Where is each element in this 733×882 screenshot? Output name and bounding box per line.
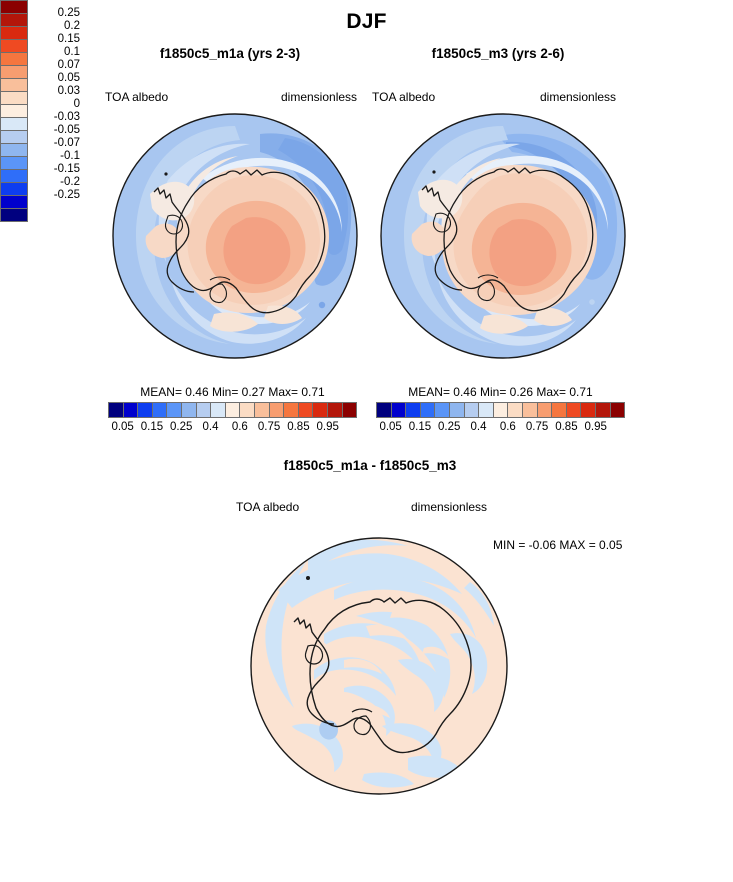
colorbar-right[interactable]: 0.050.150.250.40.60.750.850.95 [376,402,625,439]
colorbar-band [1,1,27,14]
stats-right: MEAN= 0.46 Min= 0.26 Max= 0.71 [368,385,633,399]
colorbar-band [596,403,611,417]
map-field-right [381,114,625,358]
colorbar-tick-label: 0.07 [34,59,80,71]
colorbar-band [270,403,285,417]
colorbar-band [377,403,392,417]
colorbar-band [313,403,328,417]
panel-title-left: f1850c5_m1a (yrs 2-3) [90,46,370,61]
colorbar-tick-label: -0.2 [34,176,80,188]
map-svg-right [378,108,628,364]
colorbar-tick-label: 0.95 [317,421,339,433]
colorbar-band [1,14,27,27]
colorbar-band [1,170,27,183]
colorbar-band [567,403,582,417]
colorbar-band [552,403,567,417]
map-field-difference [251,538,507,794]
colorbar-band [124,403,139,417]
colorbar-tick-label: -0.03 [34,111,80,123]
colorbar-band [299,403,314,417]
colorbar-band [153,403,168,417]
colorbar-band [1,144,27,157]
colorbar-band [343,403,357,417]
colorbar-tick-label: 0.05 [34,72,80,84]
main-title: DJF [0,10,733,34]
colorbar-tick-label: 0.25 [170,421,192,433]
colorbar-tick-label: 0.2 [34,20,80,32]
colorbar-tick-label: 0.85 [555,421,577,433]
colorbar-band [197,403,212,417]
colorbar-band [182,403,197,417]
colorbar-band [1,66,27,79]
colorbar-tick-label: 0.03 [34,85,80,97]
colorbar-band [1,27,27,40]
colorbar-tick-label: 0 [34,98,80,110]
unit-label-right: dimensionless [540,90,616,104]
colorbar-tick-label: 0.05 [379,421,401,433]
colorbar-band [1,131,27,144]
unit-label-left: dimensionless [281,90,357,104]
map-panel-right [378,108,628,364]
colorbar-tick-label: 0.15 [409,421,431,433]
colorbar-band [523,403,538,417]
colorbar-tick-label: 0.05 [111,421,133,433]
colorbar-left[interactable]: 0.050.150.250.40.60.750.850.95 [108,402,357,439]
colorbar-band [508,403,523,417]
colorbar-band [226,403,241,417]
colorbar-tick-label: -0.05 [34,124,80,136]
colorbar-difference-bands[interactable] [0,0,28,222]
colorbar-band [450,403,465,417]
colorbar-left-ticks: 0.050.150.250.40.60.750.850.95 [108,421,357,439]
colorbar-tick-label: 0.95 [585,421,607,433]
field-label-difference: TOA albedo [236,500,299,514]
colorbar-tick-label: -0.15 [34,163,80,175]
colorbar-tick-label: 0.15 [34,33,80,45]
colorbar-tick-label: -0.1 [34,150,80,162]
colorbar-tick-label: -0.07 [34,137,80,149]
colorbar-band [581,403,596,417]
colorbar-tick-label: 0.85 [287,421,309,433]
colorbar-band [1,53,27,66]
colorbar-tick-label: 0.6 [232,421,248,433]
colorbar-tick-label: 0.1 [34,46,80,58]
colorbar-tick-label: 0.4 [471,421,487,433]
colorbar-band [1,79,27,92]
unit-label-difference: dimensionless [411,500,487,514]
field-label-right: TOA albedo [372,90,435,104]
field-label-left: TOA albedo [105,90,168,104]
colorbar-band [435,403,450,417]
colorbar-band [109,403,124,417]
colorbar-band [1,92,27,105]
map-field-left [113,114,357,358]
stats-difference: MIN = -0.06 MAX = 0.05 [493,538,622,552]
colorbar-band [284,403,299,417]
colorbar-band [1,196,27,209]
colorbar-tick-label: 0.25 [438,421,460,433]
map-svg-left [110,108,360,364]
panel-title-right: f1850c5_m3 (yrs 2-6) [358,46,638,61]
colorbar-band [255,403,270,417]
colorbar-band [211,403,226,417]
colorbar-band [1,183,27,196]
colorbar-band [406,403,421,417]
colorbar-tick-label: 0.15 [141,421,163,433]
colorbar-band [479,403,494,417]
colorbar-right-ticks: 0.050.150.250.40.60.750.850.95 [376,421,625,439]
colorbar-band [494,403,509,417]
colorbar-band [328,403,343,417]
colorbar-tick-label: 0.6 [500,421,516,433]
colorbar-tick-label: 0.75 [526,421,548,433]
colorbar-tick-label: 0.75 [258,421,280,433]
colorbar-band [1,118,27,131]
colorbar-band [1,157,27,170]
colorbar-tick-label: -0.25 [34,189,80,201]
colorbar-difference-ticks: 0.250.20.150.10.070.050.030-0.03-0.05-0.… [34,0,94,882]
colorbar-band [1,40,27,53]
colorbar-band [167,403,182,417]
colorbar-band [1,209,27,221]
panel-title-difference: f1850c5_m1a - f1850c5_m3 [180,458,560,473]
colorbar-band [392,403,407,417]
colorbar-band [240,403,255,417]
colorbar-band [138,403,153,417]
colorbar-band [465,403,480,417]
colorbar-left-bands[interactable] [108,402,357,418]
colorbar-band [1,105,27,118]
map-panel-difference [248,530,510,802]
colorbar-right-bands[interactable] [376,402,625,418]
colorbar-band [421,403,436,417]
map-svg-difference [248,530,510,802]
colorbar-band [538,403,553,417]
colorbar-tick-label: 0.4 [203,421,219,433]
colorbar-tick-label: 0.25 [34,7,80,19]
colorbar-band [611,403,625,417]
stats-left: MEAN= 0.46 Min= 0.27 Max= 0.71 [100,385,365,399]
map-panel-left [110,108,360,364]
